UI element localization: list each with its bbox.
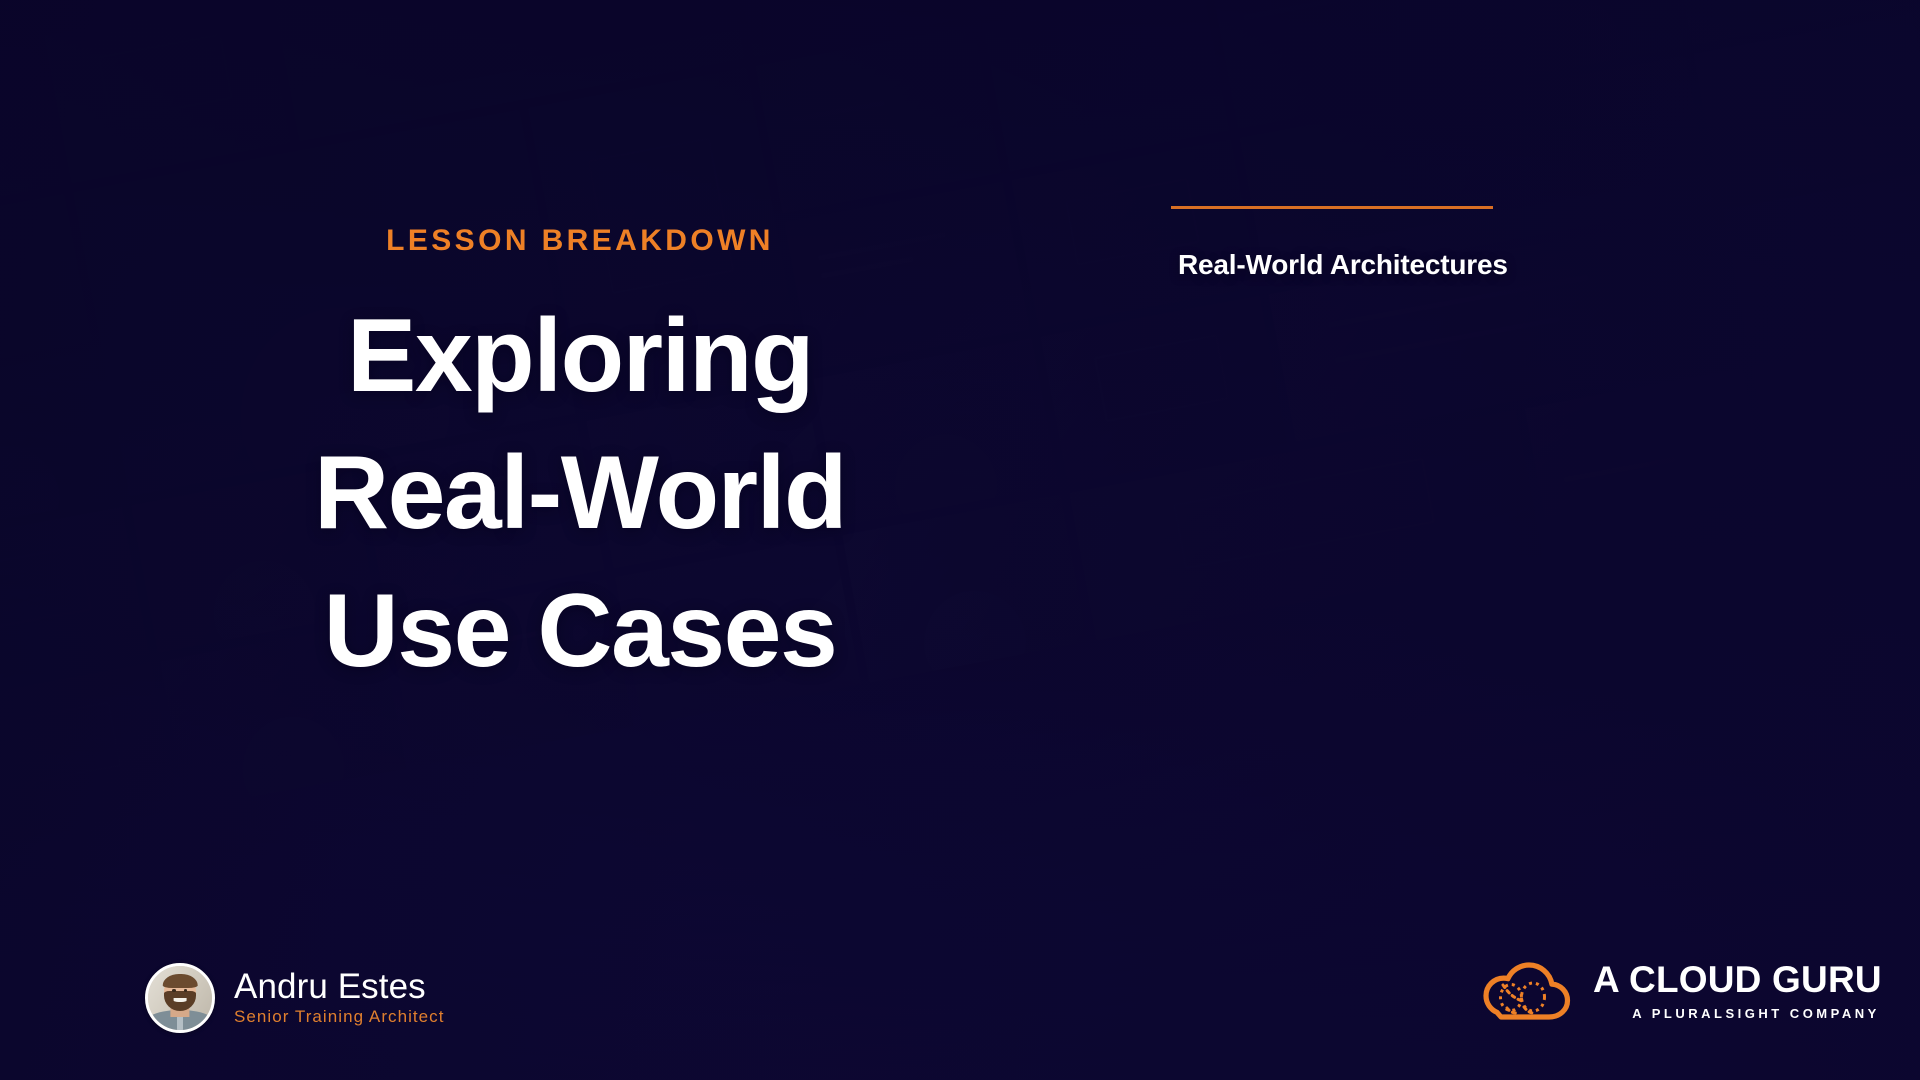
- presenter-name: Andru Estes: [234, 968, 445, 1005]
- section-title: Real-World Architectures: [1178, 249, 1508, 281]
- slide-content: LESSON BREAKDOWN Exploring Real-World Us…: [0, 0, 1920, 1080]
- presenter-block: Andru Estes Senior Training Architect: [145, 963, 445, 1033]
- title-line-1: Exploring: [0, 288, 1160, 425]
- presenter-text: Andru Estes Senior Training Architect: [234, 968, 445, 1027]
- title-line-3: Use Cases: [0, 563, 1160, 700]
- brand-text: A CLOUD GURU A PLURALSIGHT COMPANY: [1593, 960, 1882, 1022]
- brand-tagline: A PLURALSIGHT COMPANY: [1593, 1006, 1882, 1022]
- eyebrow-label: LESSON BREAKDOWN: [0, 224, 1160, 258]
- presenter-role: Senior Training Architect: [234, 1007, 445, 1027]
- avatar: [145, 963, 215, 1033]
- page-title: Exploring Real-World Use Cases: [0, 288, 1160, 700]
- avatar-photo: [148, 966, 212, 1030]
- presentation-slide: LESSON BREAKDOWN Exploring Real-World Us…: [0, 0, 1920, 1080]
- cloud-guru-icon: [1477, 960, 1573, 1022]
- brand-logo: A CLOUD GURU A PLURALSIGHT COMPANY: [1477, 960, 1882, 1022]
- brand-name: A CLOUD GURU: [1593, 960, 1882, 1000]
- section-divider-rule: [1171, 206, 1493, 209]
- title-line-2: Real-World: [0, 425, 1160, 562]
